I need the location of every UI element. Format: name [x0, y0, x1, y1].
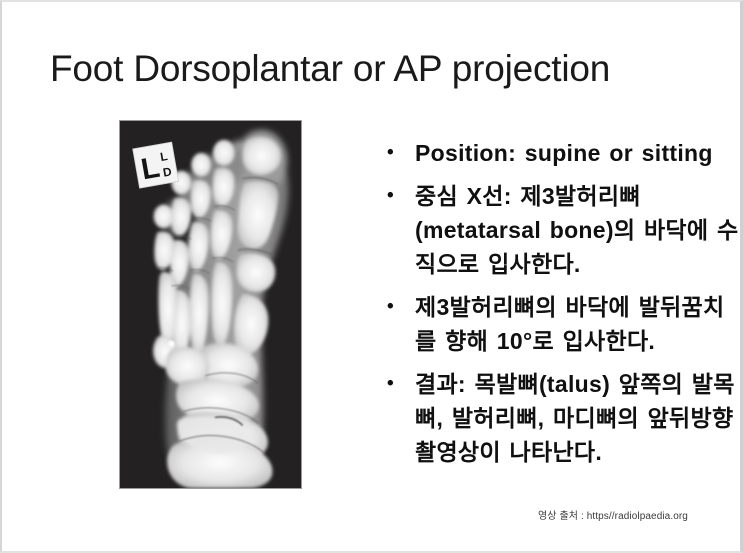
lead-marker-L: L L D [133, 142, 179, 188]
bullet-item-central-ray: • 중심 X선: 제3발허리뼈(metatarsal bone)의 바닥에 수직… [379, 179, 739, 281]
bullet-marker-icon: • [387, 367, 394, 401]
bullet-text: Position: supine or sitting [415, 136, 739, 170]
bullet-marker-icon: • [387, 179, 394, 213]
bullet-item-angle: • 제3발허리뼈의 바닥에 발뒤꿈치를 향해 10°로 입사한다. [379, 290, 739, 358]
bullet-marker-icon: • [387, 290, 394, 324]
source-attribution: 영상 출처 : https//radiolpaedia.org [538, 510, 688, 524]
presentation-slide: Foot Dorsoplantar or AP projection [0, 0, 743, 553]
bullet-text: 제3발허리뼈의 바닥에 발뒤꿈치를 향해 10°로 입사한다. [415, 290, 739, 358]
bullet-marker-icon: • [387, 136, 394, 170]
foot-xray-image: L L D [119, 120, 302, 489]
foot-xray-graphic: L L D [120, 121, 301, 488]
page-title: Foot Dorsoplantar or AP projection [50, 46, 710, 92]
bullet-text: 중심 X선: 제3발허리뼈(metatarsal bone)의 바닥에 수직으로… [415, 179, 739, 281]
bullet-item-position: • Position: supine or sitting [379, 136, 739, 170]
bullet-text: 결과: 목발뼈(talus) 앞쪽의 발목뼈, 발허리뼈, 마디뼈의 앞뒤방향 … [415, 367, 739, 469]
bullet-list: • Position: supine or sitting • 중심 X선: 제… [379, 136, 739, 478]
bullet-item-result: • 결과: 목발뼈(talus) 앞쪽의 발목뼈, 발허리뼈, 마디뼈의 앞뒤방… [379, 367, 739, 469]
